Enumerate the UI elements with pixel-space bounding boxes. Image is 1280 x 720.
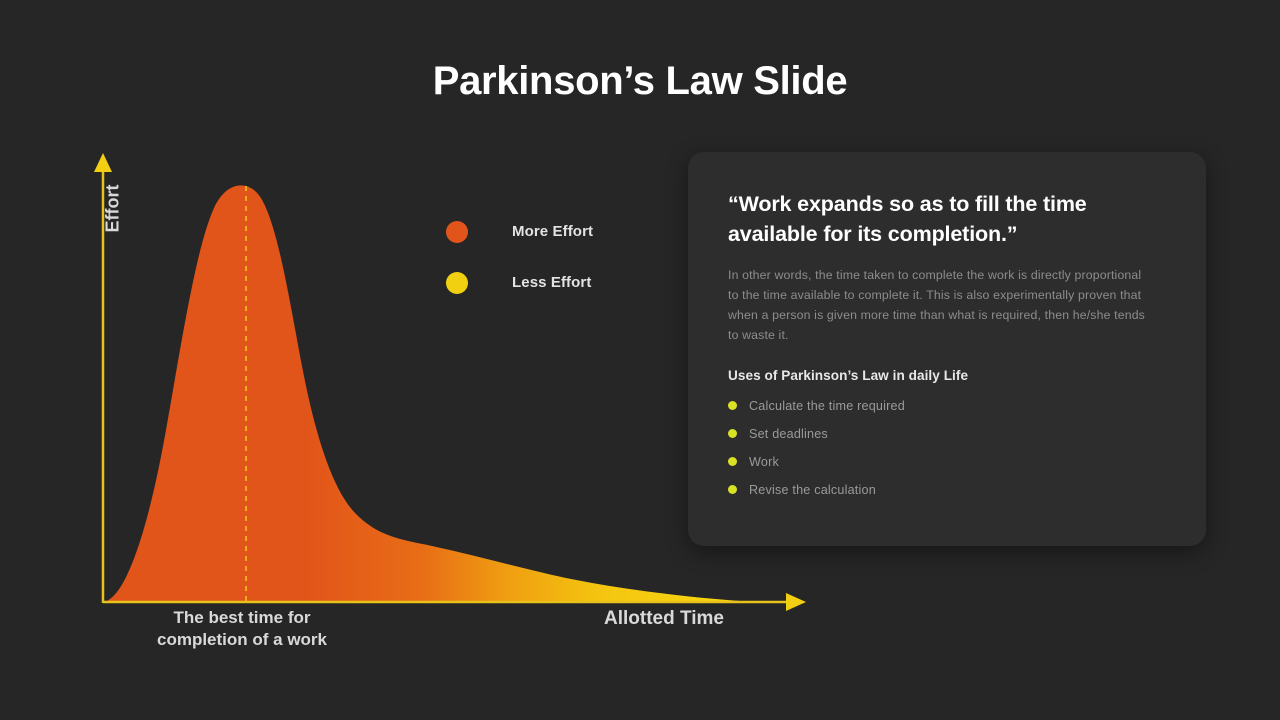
y-axis-label: Effort — [103, 154, 124, 264]
bullet-dot-icon — [728, 429, 737, 438]
peak-caption-line-1: The best time for — [120, 607, 364, 629]
bullet-dot-icon — [728, 401, 737, 410]
list-item: Calculate the time required — [728, 399, 1170, 413]
x-axis-label: Allotted Time — [604, 608, 724, 630]
bullet-dot-icon — [728, 485, 737, 494]
peak-caption-line-2: completion of a work — [120, 629, 364, 651]
card-body-text: In other words, the time taken to comple… — [728, 266, 1146, 346]
bullet-dot-icon — [728, 457, 737, 466]
peak-caption: The best time for completion of a work — [120, 607, 364, 652]
list-item-label: Revise the calculation — [749, 483, 876, 497]
card-quote: “Work expands so as to fill the time ava… — [728, 190, 1170, 249]
legend-item-less-effort[interactable]: Less Effort — [446, 257, 686, 308]
slide-root: Parkinson’s Law Slide — [0, 0, 1280, 720]
list-item: Work — [728, 455, 1170, 469]
circle-icon — [446, 221, 468, 243]
info-card: “Work expands so as to fill the time ava… — [688, 152, 1206, 546]
legend-label-more-effort: More Effort — [512, 223, 593, 240]
list-item-label: Work — [749, 455, 779, 469]
circle-icon — [446, 272, 468, 294]
list-item: Revise the calculation — [728, 483, 1170, 497]
x-axis-arrow-icon — [786, 593, 806, 611]
uses-list: Calculate the time required Set deadline… — [728, 399, 1170, 497]
list-item-label: Set deadlines — [749, 427, 828, 441]
card-subtitle: Uses of Parkinson’s Law in daily Life — [728, 368, 1170, 383]
legend-item-more-effort[interactable]: More Effort — [446, 206, 686, 257]
chart-legend: More Effort Less Effort — [446, 206, 686, 308]
list-item-label: Calculate the time required — [749, 399, 905, 413]
legend-label-less-effort: Less Effort — [512, 274, 591, 291]
list-item: Set deadlines — [728, 427, 1170, 441]
